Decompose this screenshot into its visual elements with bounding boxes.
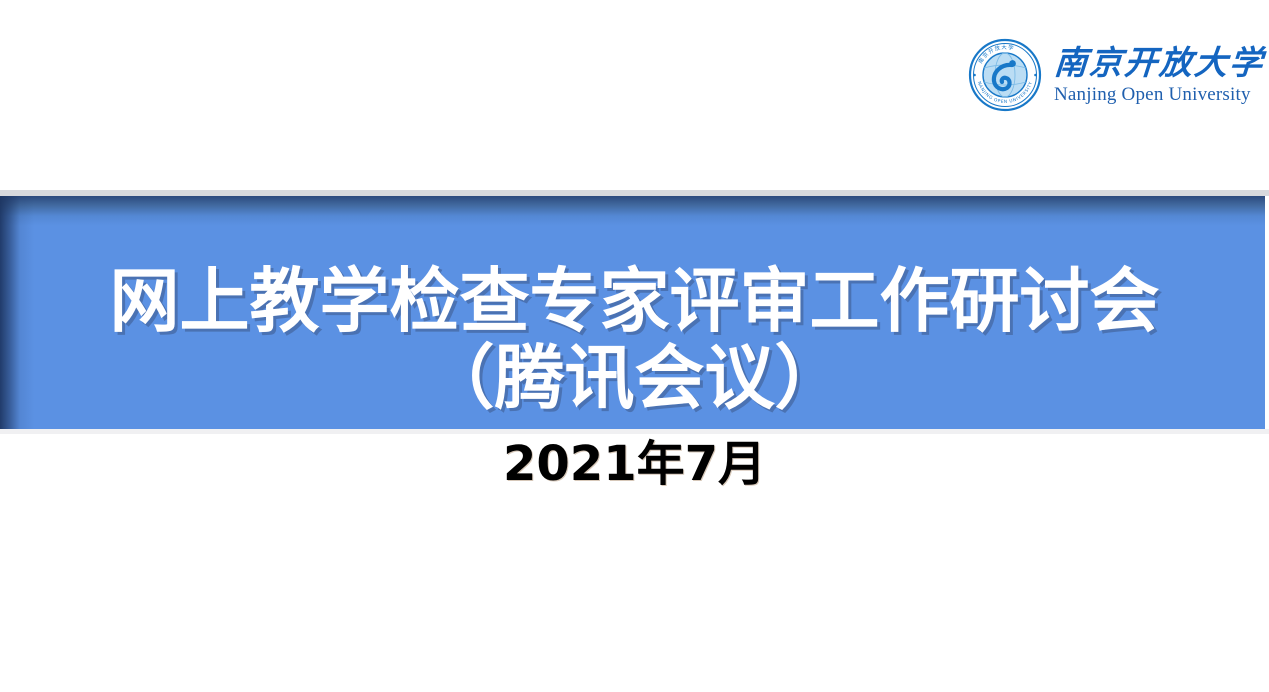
title-banner bbox=[0, 196, 1265, 429]
slide-date-text: 2021年7月 bbox=[0, 436, 1269, 492]
university-logo: 南京开放大学 NANJING OPEN UNIVERSITY 南京开放大学 Na… bbox=[968, 36, 1240, 114]
university-wordmark: 南京开放大学 Nanjing Open University bbox=[1054, 46, 1264, 104]
presentation-slide: 南京开放大学 NANJING OPEN UNIVERSITY 南京开放大学 Na… bbox=[0, 0, 1269, 692]
university-name-cn: 南京开放大学 bbox=[1053, 48, 1265, 81]
slide-date: 2021年7月 bbox=[0, 436, 1269, 492]
band-bottom-rule bbox=[0, 429, 1269, 434]
university-name-en: Nanjing Open University bbox=[1054, 85, 1264, 104]
university-seal-icon: 南京开放大学 NANJING OPEN UNIVERSITY bbox=[968, 38, 1042, 112]
